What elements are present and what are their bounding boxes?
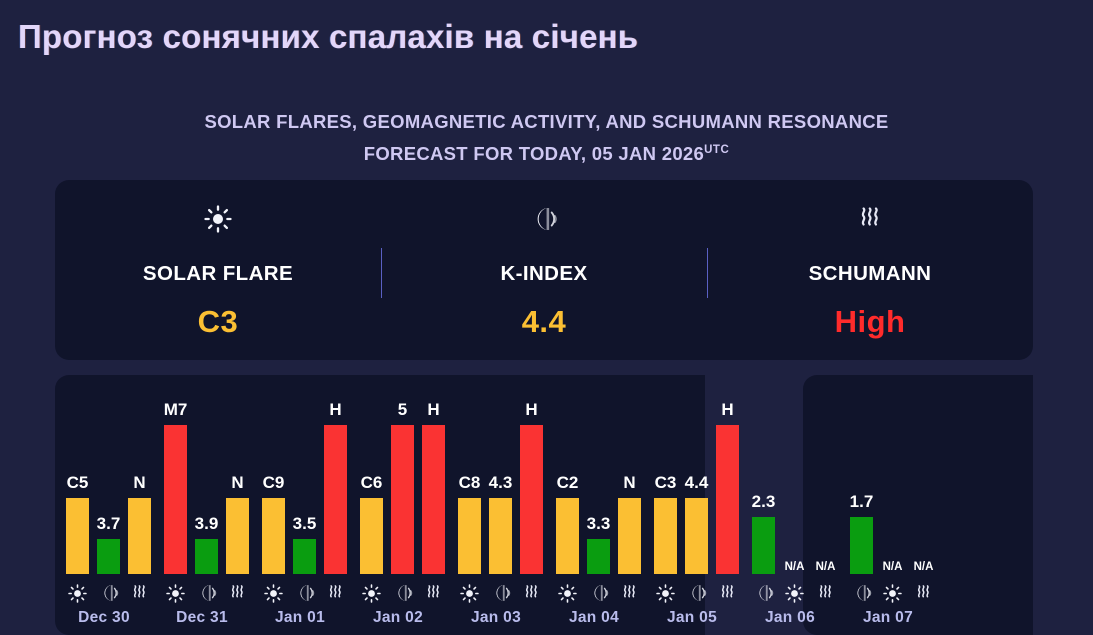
- forecast-page: Прогноз сонячних спалахів на січень SOLA…: [0, 0, 1093, 635]
- bar-k-index[interactable]: 3.7: [97, 539, 120, 574]
- bar-group: C34.4H: [643, 375, 741, 574]
- moon-wave-icon: [99, 583, 119, 603]
- bar-fill: [422, 425, 445, 574]
- metric-icon-row: [839, 582, 937, 604]
- metric-icon-slot: [324, 582, 347, 604]
- sun-icon: [204, 205, 232, 233]
- moon-wave-icon: [393, 583, 413, 603]
- bar-fill: [66, 498, 89, 574]
- bar-fill: [128, 498, 151, 574]
- moon-wave-icon: [197, 583, 217, 603]
- sun-icon: [166, 584, 185, 603]
- bar-k-index[interactable]: 5: [391, 425, 414, 574]
- bar-k-index[interactable]: 4.4: [685, 498, 708, 574]
- bar-schumann[interactable]: N: [226, 498, 249, 574]
- bar-value-label: 5: [398, 400, 407, 420]
- metric-icon-slot: [489, 582, 512, 604]
- moon-wave-icon: [754, 583, 774, 603]
- moon-wave-icon: [530, 205, 558, 233]
- chart-day-label: Jan 07: [839, 609, 937, 627]
- summary-cell-k-index[interactable]: K-INDEX4.4: [381, 180, 707, 360]
- schumann-icon: [228, 583, 247, 603]
- bar-fill: [195, 539, 218, 574]
- bar-value-label: H: [427, 400, 439, 420]
- bar-k-index[interactable]: 3.3: [587, 539, 610, 574]
- bar-k-index[interactable]: 3.9: [195, 539, 218, 574]
- bar-value-label: C3: [655, 473, 677, 493]
- chart-day-column[interactable]: 1.7N/AN/A: [839, 375, 937, 635]
- bar-schumann[interactable]: H: [422, 425, 445, 574]
- metric-icon-slot: [360, 582, 383, 604]
- metric-icon-row: [545, 582, 643, 604]
- bar-fill: [716, 425, 739, 574]
- subtitle-line-1: SOLAR FLARES, GEOMAGNETIC ACTIVITY, AND …: [0, 108, 1093, 136]
- metric-icon-slot: [850, 582, 873, 604]
- schumann-icon: [718, 583, 737, 603]
- page-subtitle: SOLAR FLARES, GEOMAGNETIC ACTIVITY, AND …: [0, 108, 1093, 168]
- metric-icon-slot: [391, 582, 414, 604]
- bar-fill: [850, 517, 873, 574]
- bar-value-label: 4.3: [489, 473, 513, 493]
- bar-value-label: N/A: [816, 561, 836, 573]
- metric-icon-row: [741, 582, 839, 604]
- schumann-icon: [620, 583, 639, 603]
- metric-icon-slot: [881, 582, 904, 604]
- metric-icon-row: [643, 582, 741, 604]
- bar-schumann[interactable]: N: [128, 498, 151, 574]
- bar-value-label: H: [721, 400, 733, 420]
- chart-day-label: Jan 04: [545, 609, 643, 627]
- bar-fill: [458, 498, 481, 574]
- metric-icon-slot: [618, 582, 641, 604]
- chart-day-column[interactable]: M73.9N: [153, 375, 251, 635]
- bar-value-label: 2.3: [752, 492, 776, 512]
- bar-fill: [520, 425, 543, 574]
- bar-value-label: N/A: [785, 561, 805, 573]
- bar-group: 2.3N/AN/A: [741, 375, 839, 574]
- bar-schumann[interactable]: H: [716, 425, 739, 574]
- metric-icon-slot: [164, 582, 187, 604]
- bar-group: C65H: [349, 375, 447, 574]
- chart-day-column[interactable]: C93.5H: [251, 375, 349, 635]
- summary-value: 4.4: [522, 304, 567, 340]
- metric-icon-slot: [97, 582, 120, 604]
- bar-fill: [360, 498, 383, 574]
- bar-solar-flare[interactable]: C6: [360, 498, 383, 574]
- schumann-icon: [326, 583, 345, 603]
- bar-fill: [262, 498, 285, 574]
- bar-fill: [587, 539, 610, 574]
- bar-fill: [556, 498, 579, 574]
- sun-icon: [264, 584, 283, 603]
- bar-k-index[interactable]: 2.3: [752, 517, 775, 574]
- moon-wave-icon: [687, 583, 707, 603]
- metric-icon-row: [447, 582, 545, 604]
- chart-day-label: Jan 05: [643, 609, 741, 627]
- bar-fill: [618, 498, 641, 574]
- sun-icon: [558, 584, 577, 603]
- schumann-icon: [424, 583, 443, 603]
- moon-wave-icon: [589, 583, 609, 603]
- bar-value-label: H: [329, 400, 341, 420]
- bar-solar-flare[interactable]: C9: [262, 498, 285, 574]
- bar-value-label: N: [231, 473, 243, 493]
- chart-day-label: Dec 31: [153, 609, 251, 627]
- bar-value-label: 4.4: [685, 473, 709, 493]
- bar-value-label: C9: [263, 473, 285, 493]
- metric-icon-slot: [422, 582, 445, 604]
- bar-solar-flare[interactable]: C2: [556, 498, 579, 574]
- metric-icon-slot: [685, 582, 708, 604]
- bar-group: C93.5H: [251, 375, 349, 574]
- bar-fill: [293, 539, 316, 574]
- sun-icon: [656, 584, 675, 603]
- sun-icon: [883, 584, 902, 603]
- bar-fill: [489, 498, 512, 574]
- schumann-icon: [856, 205, 884, 233]
- metric-icon-slot: [587, 582, 610, 604]
- bar-group: M73.9N: [153, 375, 251, 574]
- metric-icon-slot: [520, 582, 543, 604]
- chart-day-column[interactable]: C84.3H: [447, 375, 545, 635]
- summary-label: SCHUMANN: [809, 262, 932, 286]
- metric-icon-slot: [556, 582, 579, 604]
- chart-day-column[interactable]: C53.7N: [55, 375, 153, 635]
- chart-day-label: Jan 06: [741, 609, 839, 627]
- chart-day-label: Dec 30: [55, 609, 153, 627]
- bar-solar-flare[interactable]: C8: [458, 498, 481, 574]
- metric-icon-slot: [912, 582, 935, 604]
- chart-day-column[interactable]: C34.4H: [643, 375, 741, 635]
- summary-value: High: [835, 304, 906, 340]
- bar-value-label: M7: [164, 400, 188, 420]
- bar-group: C23.3N: [545, 375, 643, 574]
- forecast-chart[interactable]: H C53.7N: [0, 375, 1093, 635]
- metric-icon-slot: [195, 582, 218, 604]
- bar-fill: [752, 517, 775, 574]
- metric-icon-row: [55, 582, 153, 604]
- summary-label: K-INDEX: [500, 262, 587, 286]
- metric-icon-slot: [814, 582, 837, 604]
- sun-icon: [68, 584, 87, 603]
- bar-fill: [324, 425, 347, 574]
- summary-card: SOLAR FLAREC3 K-INDEX4.4 SCHUMANNHigh: [55, 180, 1033, 360]
- chart-day-label: Jan 03: [447, 609, 545, 627]
- summary-icon-wrapper: [204, 202, 232, 236]
- metric-icon-slot: [783, 582, 806, 604]
- bar-value-label: C6: [361, 473, 383, 493]
- bar-solar-flare[interactable]: C3: [654, 498, 677, 574]
- bar-group: C53.7N: [55, 375, 153, 574]
- subtitle-line-2: FORECAST FOR TODAY, 05 JAN 2026UTC: [0, 136, 1093, 168]
- bar-value-label: C5: [67, 473, 89, 493]
- schumann-icon: [130, 583, 149, 603]
- page-title: Прогноз сонячних спалахів на січень: [18, 18, 638, 56]
- summary-cell-schumann[interactable]: SCHUMANNHigh: [707, 180, 1033, 360]
- bar-fill: [226, 498, 249, 574]
- bar-value-label: 3.9: [195, 514, 219, 534]
- summary-icon-wrapper: [856, 202, 884, 236]
- bar-value-label: 3.5: [293, 514, 317, 534]
- bar-fill: [391, 425, 414, 574]
- bar-fill: [97, 539, 120, 574]
- metric-icon-slot: [654, 582, 677, 604]
- bar-group: 1.7N/AN/A: [839, 375, 937, 574]
- bar-value-label: N/A: [883, 561, 903, 573]
- chart-day-column[interactable]: 2.3N/AN/A: [741, 375, 839, 635]
- metric-icon-slot: [293, 582, 316, 604]
- bar-value-label: C2: [557, 473, 579, 493]
- bar-value-label: 3.7: [97, 514, 121, 534]
- moon-wave-icon: [852, 583, 872, 603]
- subtitle-line-2-text: FORECAST FOR TODAY, 05 JAN 2026: [364, 143, 704, 164]
- metric-icon-slot: [752, 582, 775, 604]
- bar-value-label: N: [623, 473, 635, 493]
- sun-icon: [460, 584, 479, 603]
- schumann-icon: [522, 583, 541, 603]
- bar-fill: [654, 498, 677, 574]
- schumann-icon: [816, 583, 835, 603]
- metric-icon-slot: [226, 582, 249, 604]
- metric-icon-slot: [716, 582, 739, 604]
- summary-value: C3: [198, 304, 239, 340]
- bar-solar-flare[interactable]: M7: [164, 425, 187, 574]
- bar-schumann[interactable]: H: [324, 425, 347, 574]
- sun-icon: [785, 584, 804, 603]
- summary-label: SOLAR FLARE: [143, 262, 293, 286]
- bar-value-label: N: [133, 473, 145, 493]
- bar-schumann[interactable]: H: [520, 425, 543, 574]
- chart-day-column[interactable]: C23.3N: [545, 375, 643, 635]
- bar-value-label: H: [525, 400, 537, 420]
- metric-icon-row: [251, 582, 349, 604]
- metric-icon-slot: [458, 582, 481, 604]
- metric-icon-slot: [128, 582, 151, 604]
- summary-icon-wrapper: [530, 202, 558, 236]
- metric-icon-row: [153, 582, 251, 604]
- bar-k-index[interactable]: 4.3: [489, 498, 512, 574]
- moon-wave-icon: [491, 583, 511, 603]
- chart-day-column[interactable]: C65H: [349, 375, 447, 635]
- bar-value-label: 1.7: [850, 492, 874, 512]
- moon-wave-icon: [295, 583, 315, 603]
- bar-solar-flare[interactable]: C5: [66, 498, 89, 574]
- metric-icon-slot: [66, 582, 89, 604]
- bar-schumann[interactable]: N: [618, 498, 641, 574]
- bar-k-index[interactable]: 1.7: [850, 517, 873, 574]
- bar-value-label: 3.3: [587, 514, 611, 534]
- utc-superscript: UTC: [704, 144, 729, 156]
- bar-k-index[interactable]: 3.5: [293, 539, 316, 574]
- bar-value-label: C8: [459, 473, 481, 493]
- bar-fill: [164, 425, 187, 574]
- metric-icon-slot: [262, 582, 285, 604]
- schumann-icon: [914, 583, 933, 603]
- sun-icon: [362, 584, 381, 603]
- metric-icon-row: [349, 582, 447, 604]
- bar-group: C84.3H: [447, 375, 545, 574]
- chart-day-label: Jan 02: [349, 609, 447, 627]
- bar-fill: [685, 498, 708, 574]
- chart-day-label: Jan 01: [251, 609, 349, 627]
- summary-cell-solar-flare[interactable]: SOLAR FLAREC3: [55, 180, 381, 360]
- bar-value-label: N/A: [914, 561, 934, 573]
